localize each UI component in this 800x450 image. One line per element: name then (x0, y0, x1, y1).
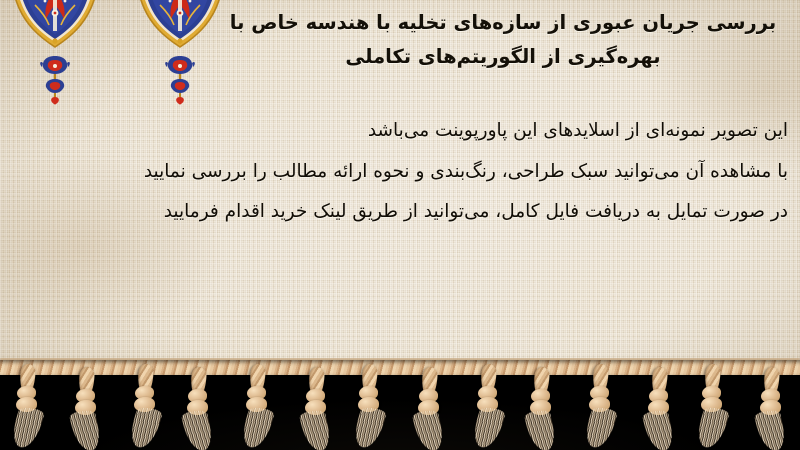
presentation-slide: بررسی جریان عبوری از سازه‌های تخلیه با ه… (0, 0, 800, 450)
tassel-skirt (8, 407, 45, 450)
fringe-tassel (132, 364, 158, 444)
slide-body: این تصویر نمونه‌ای از اسلایدهای این پاور… (8, 110, 788, 232)
fringe-tassel (758, 367, 784, 447)
tassel-skirt (351, 407, 388, 450)
tassel-skirt (68, 410, 103, 450)
fringe-tassel (528, 367, 554, 447)
body-line-3: در صورت تمایل به دریافت فایل کامل، می‌تو… (8, 192, 788, 232)
carpet-fringe (0, 358, 800, 450)
fringe-tassel (14, 364, 40, 444)
fringe-tassel (646, 367, 672, 447)
fringe-tassel (73, 367, 99, 447)
fringe-tassel (244, 364, 270, 444)
tassel-skirt (694, 407, 731, 450)
black-footer-band (0, 368, 800, 450)
fringe-tassel (475, 364, 501, 444)
slide-title: بررسی جریان عبوری از سازه‌های تخلیه با ه… (220, 6, 786, 74)
title-line-2: بهره‌گیری از الگوریتم‌های تکاملی (220, 40, 786, 74)
fringe-tassel (699, 364, 725, 444)
fringe-tassel (587, 364, 613, 444)
tassel-skirt (299, 410, 334, 450)
tassel-skirt (523, 410, 558, 450)
tassel-skirt (582, 407, 619, 450)
fringe-tassel (303, 367, 329, 447)
tassel-skirt (411, 410, 446, 450)
fringe-tassel (356, 364, 382, 444)
tassel-skirt (754, 410, 789, 450)
tassel-skirt (126, 407, 163, 450)
tassel-skirt (181, 410, 216, 450)
body-line-2: با مشاهده آن می‌توانید سبک طراحی، رنگ‌بن… (8, 152, 788, 192)
fringe-tassel (416, 367, 442, 447)
fringe-cord (0, 360, 800, 375)
tassel-skirt (642, 410, 677, 450)
fringe-tassel (185, 367, 211, 447)
title-line-1: بررسی جریان عبوری از سازه‌های تخلیه با ه… (220, 6, 786, 40)
body-line-1: این تصویر نمونه‌ای از اسلایدهای این پاور… (8, 110, 788, 152)
tassel-skirt (239, 407, 276, 450)
tassel-skirt (469, 407, 506, 450)
